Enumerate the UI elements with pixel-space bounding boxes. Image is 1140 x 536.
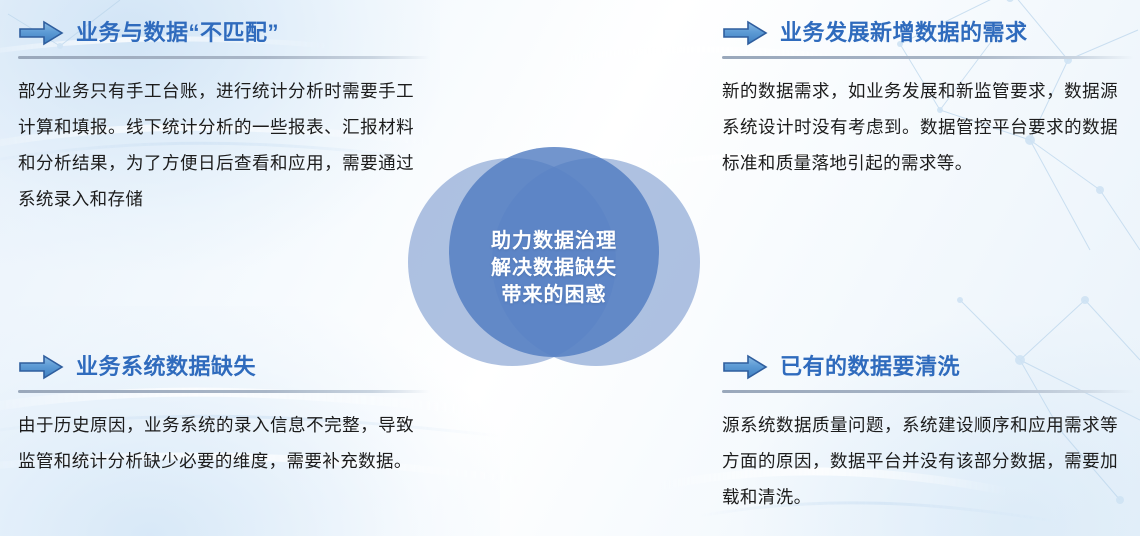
panel-top-left: 业务与数据“不匹配” 部分业务只有手工台账，进行统计分析时需要手工计算和填报。线… (18, 14, 430, 217)
panel-divider (722, 56, 1134, 59)
arrow-right-icon (18, 354, 64, 380)
panel-header: 业务与数据“不匹配” (18, 14, 430, 52)
panel-title: 业务系统数据缺失 (76, 356, 256, 378)
panel-title: 已有的数据要清洗 (780, 356, 960, 378)
panel-header: 已有的数据要清洗 (722, 348, 1134, 386)
panel-body-text: 新的数据需求，如业务发展和新监管要求，数据源系统设计时没有考虑到。数据管控平台要… (722, 73, 1118, 181)
center-venn-graphic: 助力数据治理 解决数据缺失 带来的困惑 (404, 112, 704, 402)
arrow-right-icon (18, 20, 64, 46)
panel-body-text: 由于历史原因，业务系统的录入信息不完整，导致监管和统计分析缺少必要的维度，需要补… (18, 407, 414, 479)
arrow-right-icon (722, 354, 768, 380)
panel-divider (18, 56, 430, 59)
venn-caption-line-3: 带来的困惑 (404, 282, 704, 309)
venn-caption-line-1: 助力数据治理 (404, 228, 704, 255)
panel-body-text: 部分业务只有手工台账，进行统计分析时需要手工计算和填报。线下统计分析的一些报表、… (18, 73, 414, 217)
arrow-right-icon (722, 20, 768, 46)
panel-title: 业务与数据“不匹配” (76, 22, 279, 44)
panel-header: 业务系统数据缺失 (18, 348, 430, 386)
panel-top-right: 业务发展新增数据的需求 新的数据需求，如业务发展和新监管要求，数据源系统设计时没… (722, 14, 1134, 181)
slide-canvas: 业务与数据“不匹配” 部分业务只有手工台账，进行统计分析时需要手工计算和填报。线… (0, 0, 1140, 536)
panel-body-text: 源系统数据质量问题，系统建设顺序和应用需求等方面的原因，数据平台并没有该部分数据… (722, 407, 1118, 515)
panel-title: 业务发展新增数据的需求 (780, 22, 1028, 44)
panel-header: 业务发展新增数据的需求 (722, 14, 1134, 52)
panel-divider (18, 390, 430, 393)
venn-caption: 助力数据治理 解决数据缺失 带来的困惑 (404, 228, 704, 309)
panel-divider (722, 390, 1134, 393)
venn-caption-line-2: 解决数据缺失 (404, 255, 704, 282)
panel-bottom-left: 业务系统数据缺失 由于历史原因，业务系统的录入信息不完整，导致监管和统计分析缺少… (18, 348, 430, 479)
panel-bottom-right: 已有的数据要清洗 源系统数据质量问题，系统建设顺序和应用需求等方面的原因，数据平… (722, 348, 1134, 515)
